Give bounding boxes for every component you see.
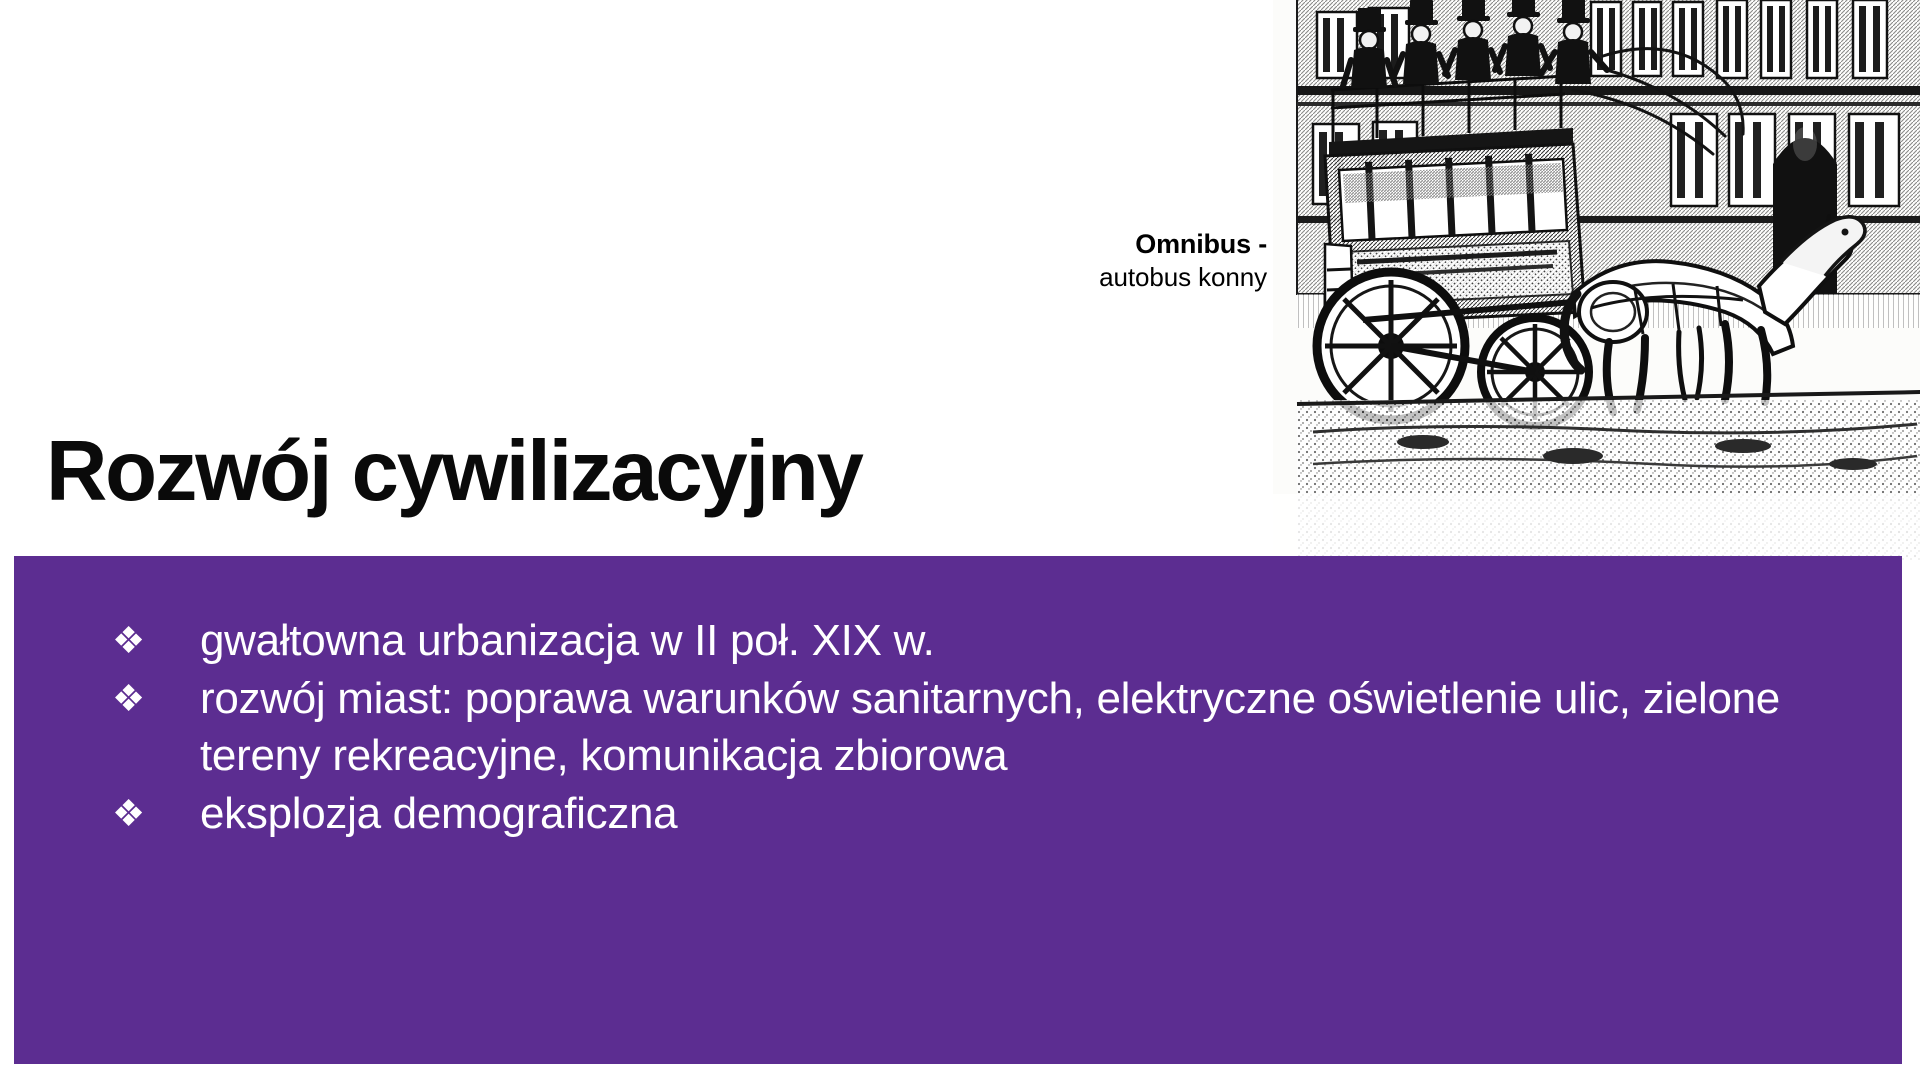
bullet-list: ❖ gwałtowna urbanizacja w II poł. XIX w.… xyxy=(112,613,1842,844)
content-band: ❖ gwałtowna urbanizacja w II poł. XIX w.… xyxy=(14,556,1902,1064)
list-item-label: eksplozja demograficzna xyxy=(200,786,1800,842)
caption-title: Omnibus - xyxy=(905,228,1267,261)
list-item-label: gwałtowna urbanizacja w II poł. XIX w. xyxy=(200,613,1800,669)
presentation-slide: Omnibus - autobus konny Rozwój cywilizac… xyxy=(0,0,1920,1080)
list-item: ❖ gwałtowna urbanizacja w II poł. XIX w. xyxy=(112,613,1842,669)
list-item: ❖ eksplozja demograficzna xyxy=(112,786,1842,842)
diamond-bullet-icon: ❖ xyxy=(112,613,200,669)
diamond-bullet-icon: ❖ xyxy=(112,786,200,842)
slide-title: Rozwój cywilizacyjny xyxy=(46,429,862,514)
list-item-label: rozwój miast: poprawa warunków sanitarny… xyxy=(200,671,1800,784)
omnibus-engraving-image xyxy=(1273,0,1920,560)
diamond-bullet-icon: ❖ xyxy=(112,671,200,727)
image-caption: Omnibus - autobus konny xyxy=(905,228,1267,294)
caption-subtitle: autobus konny xyxy=(905,261,1267,293)
list-item: ❖ rozwój miast: poprawa warunków sanitar… xyxy=(112,671,1842,784)
